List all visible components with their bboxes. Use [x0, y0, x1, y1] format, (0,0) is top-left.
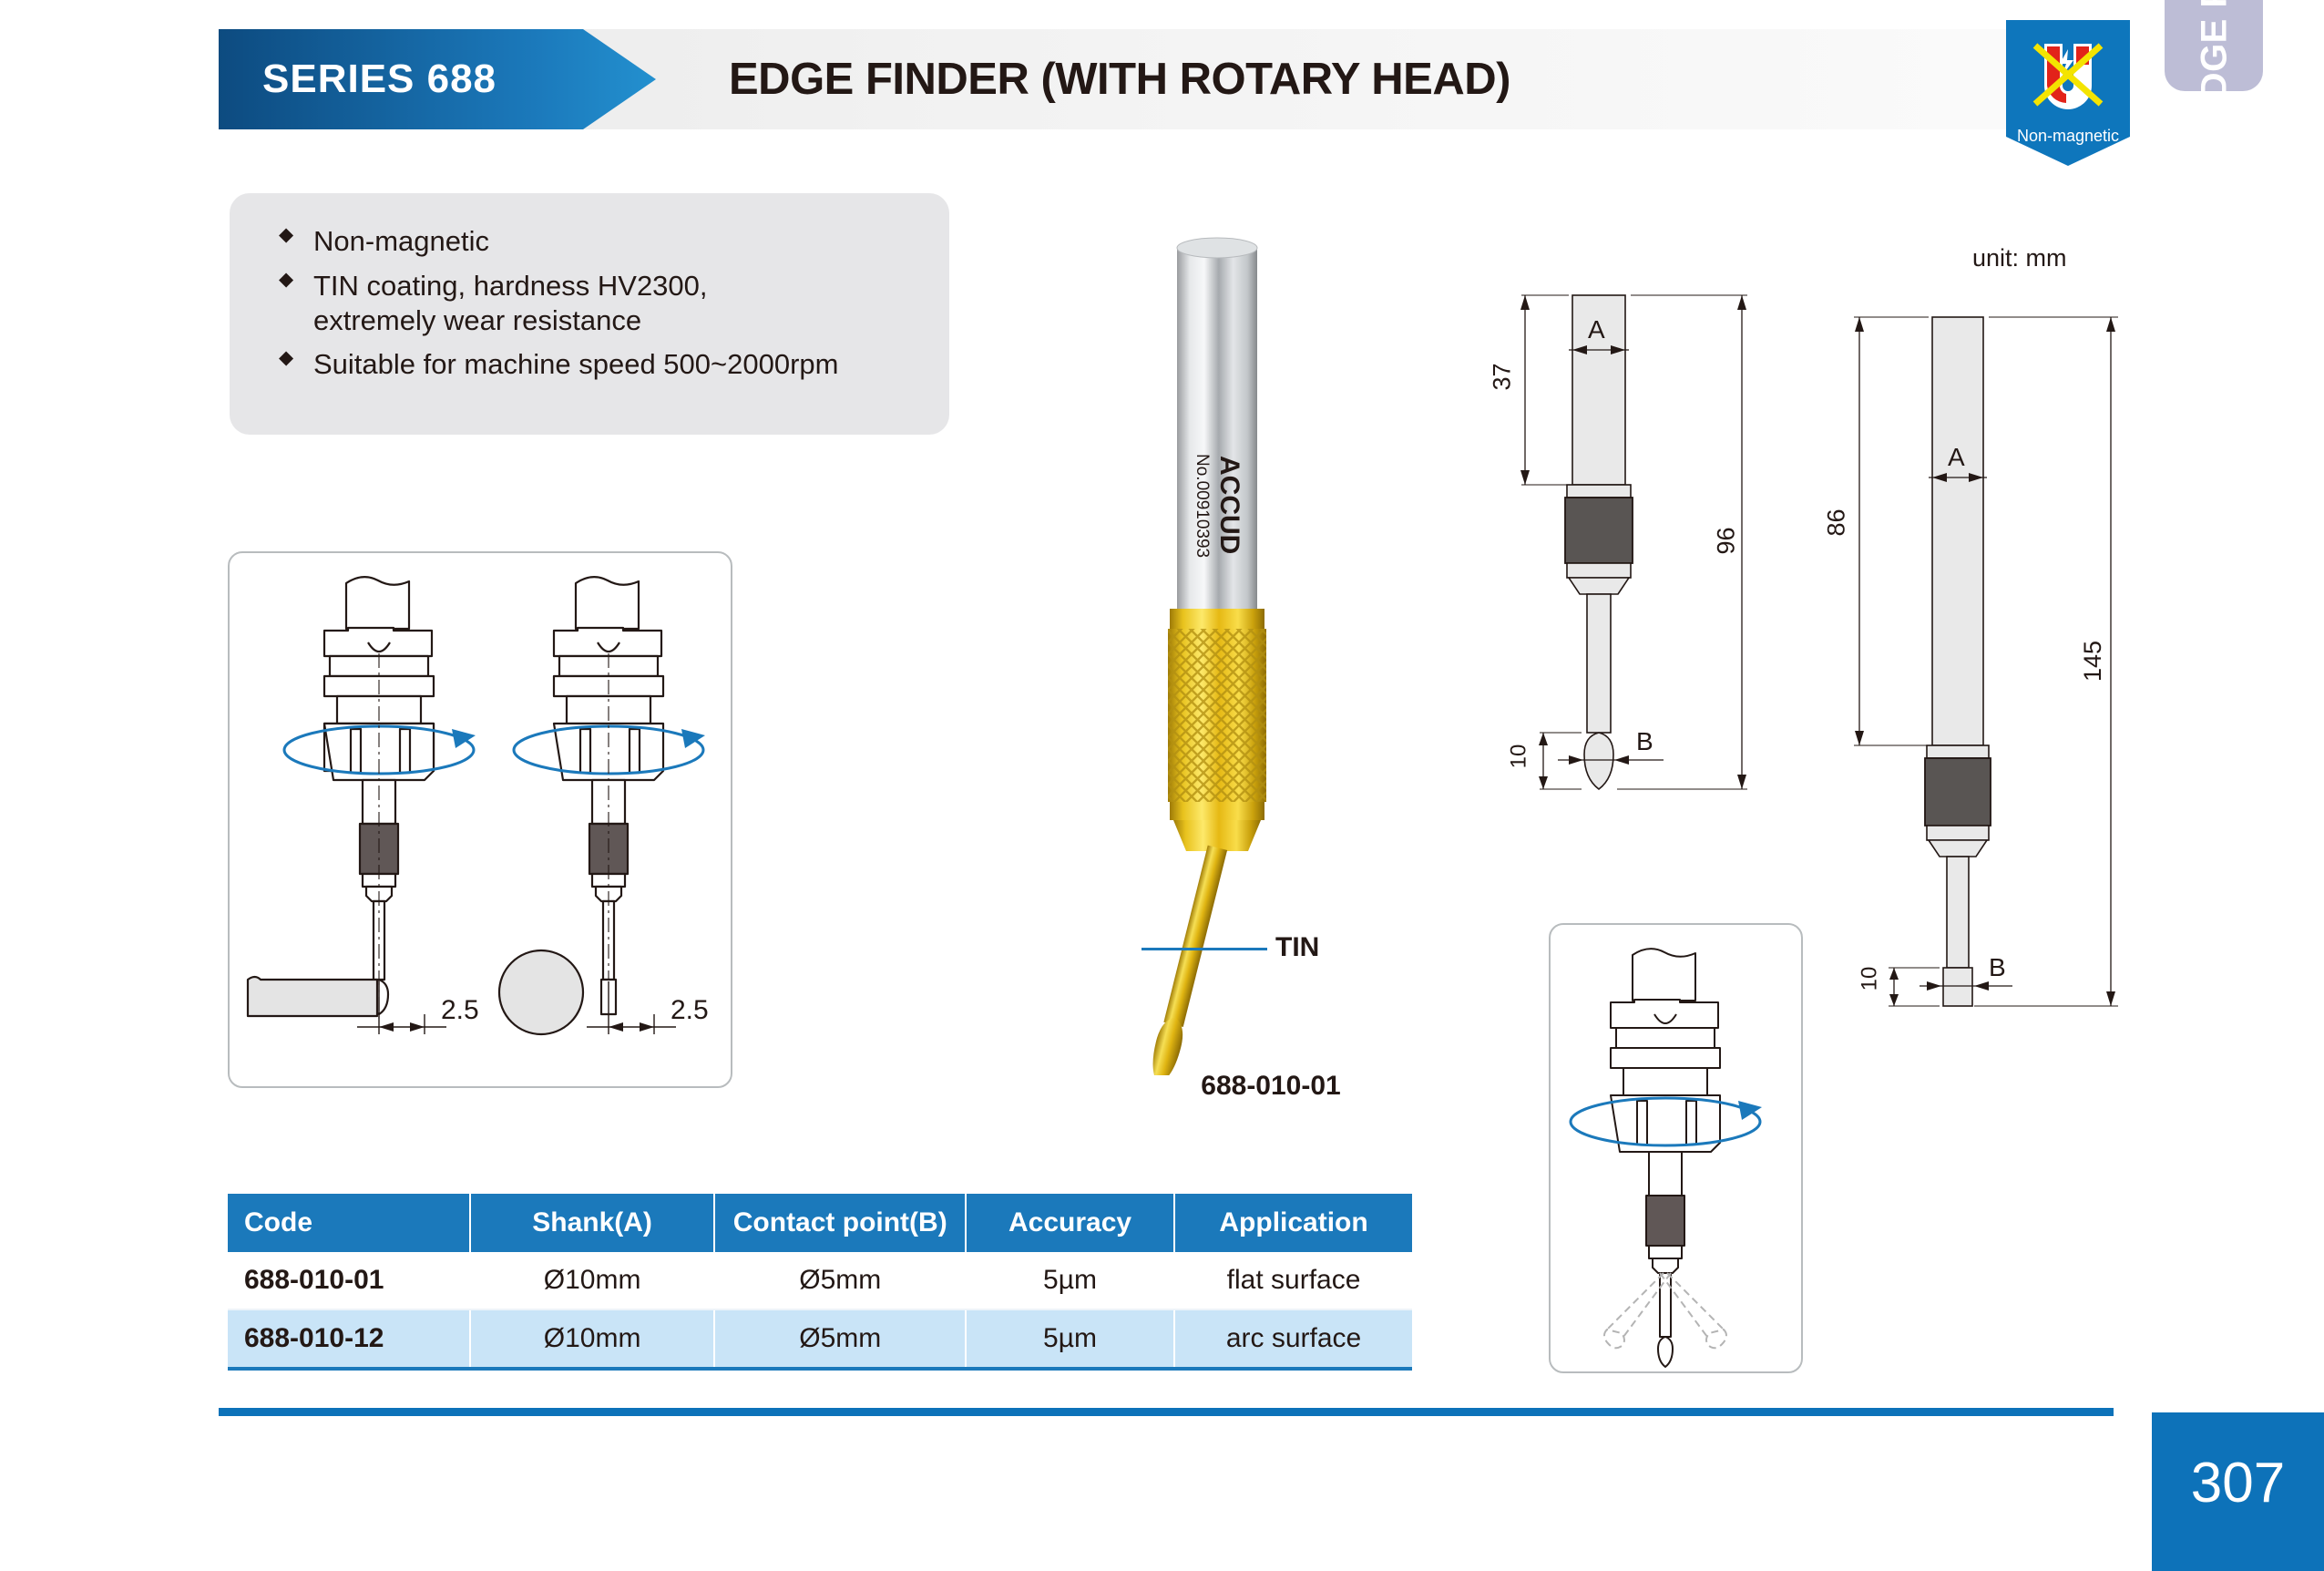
th-code: Code: [228, 1194, 470, 1252]
series-label: SERIES 688: [219, 56, 497, 102]
series-badge: SERIES 688: [219, 29, 656, 129]
tin-callout-label: TIN: [1275, 932, 1319, 963]
th-contact: Contact point(B): [714, 1194, 966, 1252]
cell-accuracy: 5µm: [966, 1252, 1174, 1309]
side-tab: EDGE FINDER SET: [2165, 0, 2263, 91]
cell-contact: Ø5mm: [714, 1252, 966, 1309]
illustration-box-rotation: [1549, 923, 1803, 1373]
shank-serial: No.00910393: [0, 0, 1, 1]
feature-item: Suitable for machine speed 500~2000rpm: [273, 347, 949, 392]
shank-serial-text: No.00910393: [1193, 454, 1212, 558]
specification-table: Code Shank(A) Contact point(B) Accuracy …: [228, 1194, 1412, 1371]
cell-shank: Ø10mm: [470, 1252, 715, 1309]
page-number: 307: [2152, 1451, 2324, 1515]
page-header: SERIES 688 EDGE FINDER (WITH ROTARY HEAD…: [219, 29, 2114, 129]
dim-10-flat: 10: [1506, 744, 1531, 769]
page-title: EDGE FINDER (WITH ROTARY HEAD): [729, 29, 1510, 129]
label-A-flat: A: [1588, 315, 1605, 344]
drawing-arc-svg: [1817, 264, 2164, 1030]
technical-drawing-arc: 86 145 10 A B: [1817, 264, 2164, 1030]
feature-text-cont: extremely wear resistance: [313, 304, 641, 336]
table-row[interactable]: 688-010-12 Ø10mm Ø5mm 5µm arc surface: [228, 1309, 1412, 1369]
dimension-left-2-5: 2.5: [441, 995, 479, 1026]
features-panel: Non-magnetic TIN coating, hardness HV230…: [230, 193, 949, 435]
label-B-arc: B: [1989, 953, 2006, 982]
footer-rule: [219, 1408, 2114, 1416]
feature-text: Non-magnetic: [313, 225, 489, 257]
dimension-right-2-5: 2.5: [671, 995, 709, 1026]
cell-code: 688-010-12: [228, 1309, 470, 1369]
page-number-tab: 307: [2152, 1412, 2324, 1571]
badge-caption: Non-magnetic: [2006, 127, 2130, 146]
table-header-row: Code Shank(A) Contact point(B) Accuracy …: [228, 1194, 1412, 1252]
shank-brand-text: ACCUD: [1214, 456, 1244, 554]
feature-item: TIN coating, hardness HV2300, extremely …: [273, 269, 949, 348]
non-magnetic-badge: Non-magnetic: [2006, 20, 2130, 166]
cell-shank: Ø10mm: [470, 1309, 715, 1369]
dim-37: 37: [1489, 363, 1517, 390]
th-accuracy: Accuracy: [966, 1194, 1174, 1252]
side-tab-label: EDGE FINDER SET: [2195, 0, 2236, 91]
dim-145: 145: [2079, 641, 2107, 682]
tin-leader-line: [1142, 948, 1267, 950]
label-A-arc: A: [1948, 443, 1965, 472]
feature-item: Non-magnetic: [273, 224, 949, 269]
illustration-box-usage: 2.5 2.5: [228, 551, 732, 1088]
table-row[interactable]: 688-010-01 Ø10mm Ø5mm 5µm flat surface: [228, 1252, 1412, 1309]
th-shank: Shank(A): [470, 1194, 715, 1252]
cell-accuracy: 5µm: [966, 1309, 1174, 1369]
dim-10-arc: 10: [1857, 967, 1882, 991]
cell-code: 688-010-01: [228, 1252, 470, 1309]
feature-text: TIN coating, hardness HV2300,: [313, 270, 708, 302]
cell-application: flat surface: [1174, 1252, 1412, 1309]
product-code-caption: 688-010-01: [1025, 1071, 1517, 1102]
feature-text: Suitable for machine speed 500~2000rpm: [313, 348, 838, 380]
cell-application: arc surface: [1174, 1309, 1412, 1369]
th-application: Application: [1174, 1194, 1412, 1252]
shank-brand: ACCUD: [0, 0, 1, 1]
label-B-flat: B: [1636, 727, 1653, 756]
no-magnet-icon: [2022, 33, 2114, 122]
dim-86: 86: [1823, 508, 1851, 536]
dim-96: 96: [1713, 527, 1741, 554]
cell-contact: Ø5mm: [714, 1309, 966, 1369]
technical-drawing-flat: 37 96 10 A B: [1485, 273, 1786, 829]
rotation-diagram: [1551, 925, 1797, 1368]
features-list: Non-magnetic TIN coating, hardness HV230…: [230, 224, 949, 392]
